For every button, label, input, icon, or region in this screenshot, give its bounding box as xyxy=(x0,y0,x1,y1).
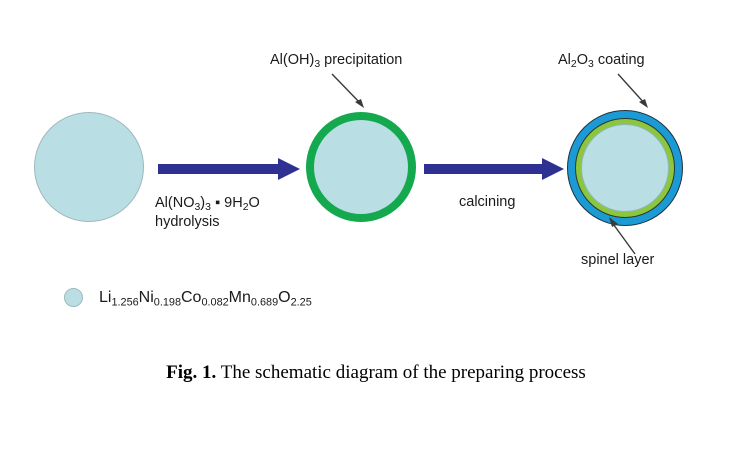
layer-particle-core xyxy=(581,124,669,212)
legend: Li1.256Ni0.198Co0.082Mn0.689O2.25 xyxy=(64,288,312,307)
step-label-hydrolysis-line1: Al(NO3)3 ▪ 9H2O xyxy=(155,194,260,213)
pointer-arrow-precipitation-icon xyxy=(330,72,376,114)
particle-with-aloh3-precipitation xyxy=(306,112,416,222)
particle-calcined-coated xyxy=(567,110,683,226)
annotation-alumina-coating-label: Al2O3 coating xyxy=(558,52,645,69)
annotation-precipitation-label: Al(OH)3 precipitation xyxy=(270,52,402,69)
legend-formula: Li1.256Ni0.198Co0.082Mn0.689O2.25 xyxy=(99,289,312,307)
figure-caption: Fig. 1. The schematic diagram of the pre… xyxy=(0,362,752,384)
figure-canvas: Al(NO3)3 ▪ 9H2O hydrolysis Al(OH)3 preci… xyxy=(0,0,752,455)
process-arrow-calcining xyxy=(424,158,564,180)
annotation-spinel-layer-label: spinel layer xyxy=(581,252,654,269)
step-label-hydrolysis: Al(NO3)3 ▪ 9H2O hydrolysis xyxy=(155,194,260,232)
legend-swatch-core-material xyxy=(64,288,83,307)
particle-pristine xyxy=(34,112,144,222)
pointer-arrow-alumina-icon xyxy=(616,72,662,114)
process-arrow-hydrolysis xyxy=(158,158,300,180)
pointer-arrow-spinel-icon xyxy=(605,212,651,256)
figure-caption-text: The schematic diagram of the preparing p… xyxy=(221,362,586,383)
figure-caption-label: Fig. 1. xyxy=(166,362,216,383)
step-label-calcining: calcining xyxy=(459,194,515,211)
step-label-hydrolysis-line2: hydrolysis xyxy=(155,213,260,232)
